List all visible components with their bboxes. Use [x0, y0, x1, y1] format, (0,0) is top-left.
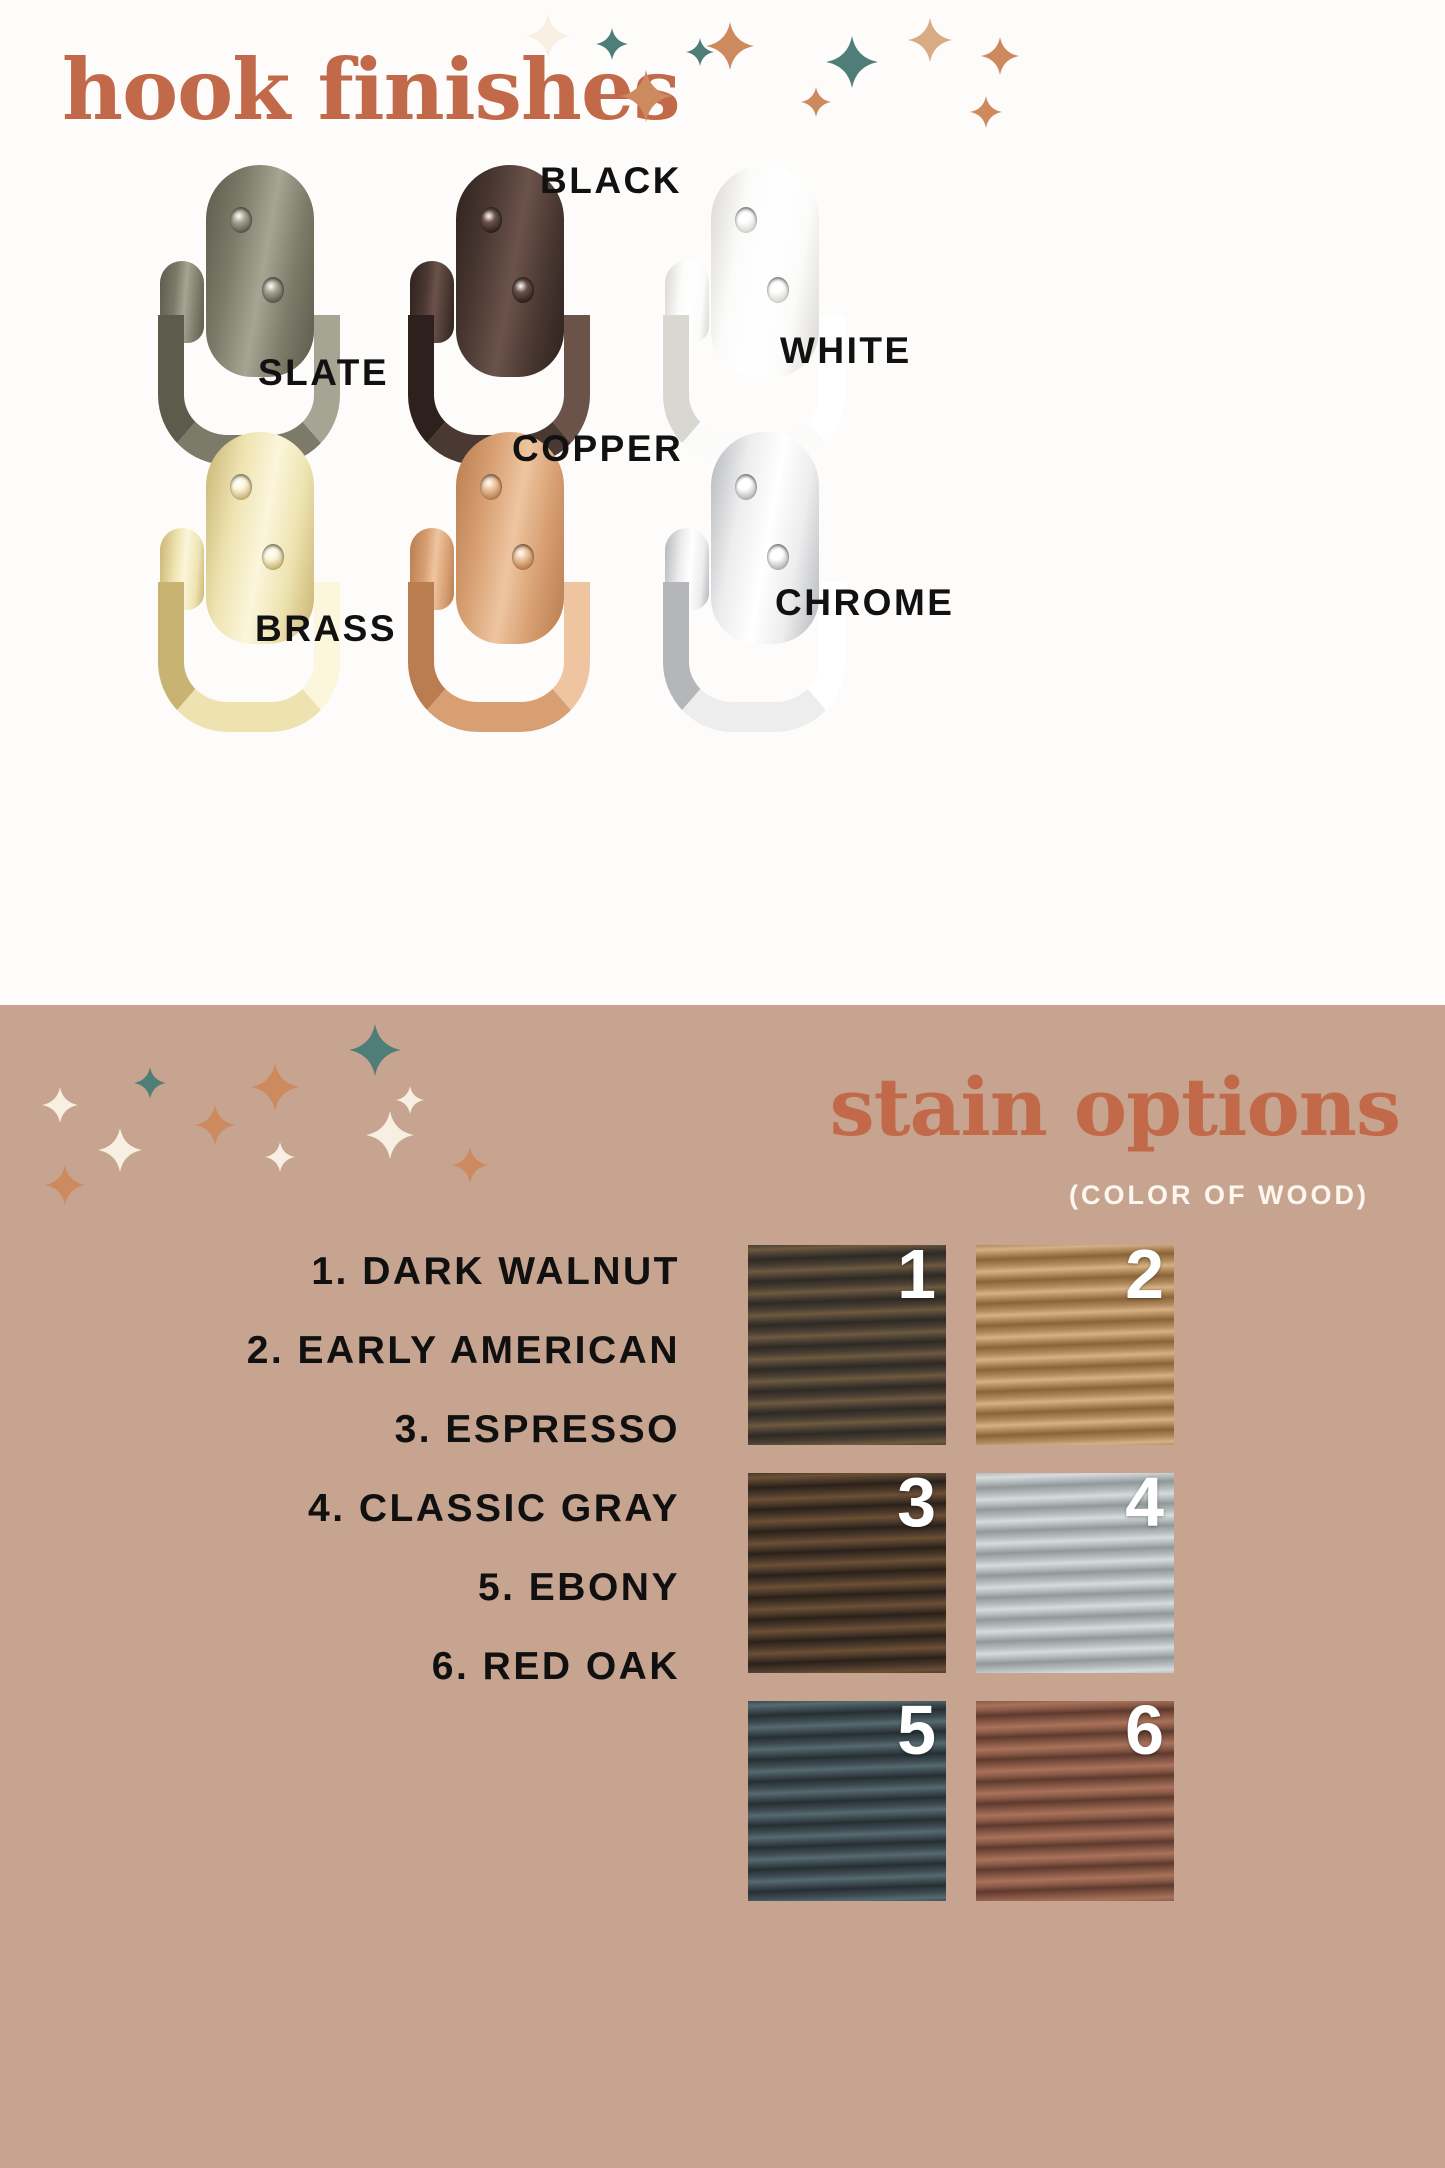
sparkle-icon: [45, 1165, 85, 1205]
hook-swatch: [655, 165, 855, 455]
sparkle-icon: [596, 28, 628, 60]
sparkle-icon: [195, 1105, 235, 1145]
swatch-number: 4: [1125, 1473, 1164, 1537]
hook-finish-label: SLATE: [258, 352, 389, 394]
sparkle-icon: [620, 70, 672, 122]
swatch-number: 1: [897, 1245, 936, 1309]
hook-finishes-section: hook finishes SLATEBLACKWHITEBRASSCOPPER…: [0, 0, 1445, 1005]
swatch-number: 3: [897, 1473, 936, 1537]
wood-swatch[interactable]: 1: [748, 1245, 946, 1445]
sparkle-icon: [981, 37, 1019, 75]
stain-list-item: 5. EBONY: [60, 1566, 680, 1610]
stain-list-item: 2. EARLY AMERICAN: [60, 1329, 680, 1373]
sparkle-icon: [265, 1142, 295, 1172]
hook-screw-hole: [230, 207, 252, 233]
hook-screw-hole: [480, 474, 502, 500]
stain-options-section: stain options (COLOR OF WOOD) 1. DARK WA…: [0, 1005, 1445, 2168]
sparkle-icon: [396, 1086, 424, 1114]
hook-curve: [408, 582, 590, 732]
sparkle-icon: [908, 18, 952, 62]
sparkle-icon: [801, 87, 831, 117]
stain-list-item: 6. RED OAK: [60, 1645, 680, 1689]
stain-name-list: 1. DARK WALNUT2. EARLY AMERICAN3. ESPRES…: [60, 1250, 680, 1724]
stain-list-item: 3. ESPRESSO: [60, 1408, 680, 1452]
hook-screw-hole: [262, 277, 284, 303]
wood-swatch[interactable]: 4: [976, 1473, 1174, 1673]
wood-swatch[interactable]: 3: [748, 1473, 946, 1673]
wood-swatch[interactable]: 5: [748, 1701, 946, 1901]
hook-screw-hole: [767, 544, 789, 570]
hook-finish-label: CHROME: [775, 582, 954, 624]
hook-swatch: [400, 165, 600, 455]
hook-swatch: [655, 432, 855, 722]
hook-screw-hole: [512, 544, 534, 570]
hook-swatch: [150, 432, 350, 722]
sparkle-icon: [526, 14, 570, 58]
hook-finishes-title: hook finishes: [62, 48, 680, 132]
sparkle-icon: [452, 1147, 488, 1183]
swatch-number: 6: [1125, 1701, 1164, 1765]
stain-options-subtitle: (COLOR OF WOOD): [1069, 1180, 1369, 1211]
poster-root: hook finishes SLATEBLACKWHITEBRASSCOPPER…: [0, 0, 1445, 2168]
hook-screw-hole: [735, 474, 757, 500]
sparkle-icon: [42, 1087, 78, 1123]
hook-screw-hole: [767, 277, 789, 303]
hook-screw-hole: [480, 207, 502, 233]
wood-swatch[interactable]: 6: [976, 1701, 1174, 1901]
stain-options-title: stain options: [830, 1067, 1400, 1147]
wood-swatch[interactable]: 2: [976, 1245, 1174, 1445]
hook-screw-hole: [262, 544, 284, 570]
sparkle-icon: [251, 1063, 299, 1111]
stain-list-item: 4. CLASSIC GRAY: [60, 1487, 680, 1531]
hook-curve: [158, 582, 340, 732]
hook-screw-hole: [230, 474, 252, 500]
swatch-number: 2: [1125, 1245, 1164, 1309]
hook-finish-label: WHITE: [780, 330, 912, 372]
hook-screw-hole: [735, 207, 757, 233]
hook-finish-label: BRASS: [255, 608, 397, 650]
hook-swatch: [150, 165, 350, 455]
sparkle-icon: [349, 1024, 401, 1076]
sparkle-icon: [826, 36, 878, 88]
sparkle-icon: [366, 1111, 414, 1159]
swatch-number: 5: [897, 1701, 936, 1765]
hook-screw-hole: [512, 277, 534, 303]
hook-swatch: [400, 432, 600, 722]
sparkle-icon: [134, 1067, 166, 1099]
sparkle-icon: [706, 22, 754, 70]
sparkle-icon: [970, 96, 1002, 128]
sparkle-icon: [98, 1128, 142, 1172]
stain-list-item: 1. DARK WALNUT: [60, 1250, 680, 1294]
